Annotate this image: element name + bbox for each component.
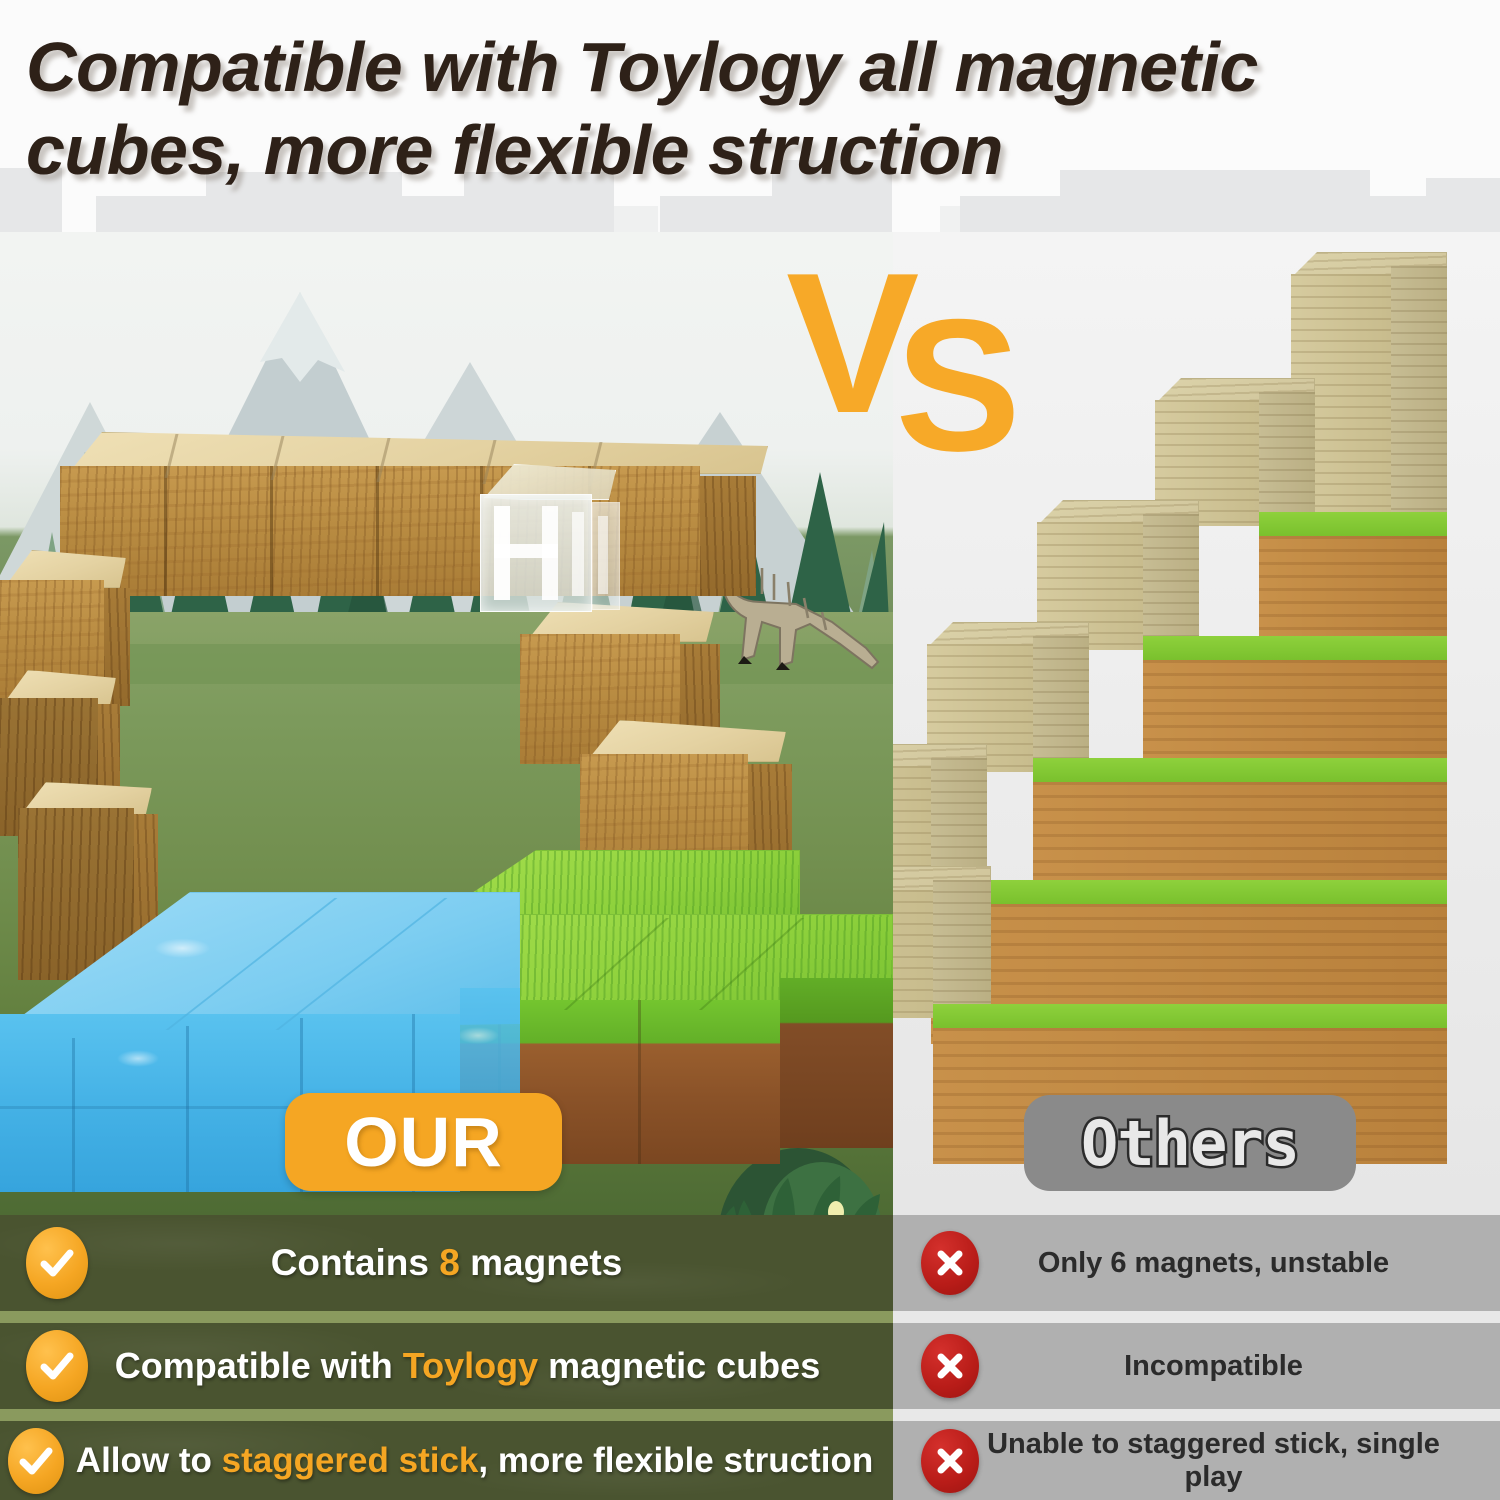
our-feature-column: Contains 8 magnets Compatible with Toylo… [0, 1215, 893, 1500]
others-badge-label: Others [1081, 1107, 1299, 1180]
others-feature-row-2: Incompatible [893, 1323, 1500, 1409]
our-feature-1-highlight: 8 [439, 1242, 460, 1283]
cross-icon [921, 1231, 979, 1295]
our-feature-row-3: Allow to staggered stick, more flexible … [0, 1421, 893, 1500]
row-separator-1 [0, 1311, 893, 1323]
our-feature-1-post: magnets [460, 1242, 622, 1283]
versus-s: S [895, 280, 1006, 490]
our-feature-2-post: magnetic cubes [538, 1345, 820, 1386]
page-title: Compatible with Toylogy all magnetic cub… [26, 26, 1486, 193]
our-feature-row-2: Compatible with Toylogy magnetic cubes [0, 1323, 893, 1409]
our-feature-text-1: Contains 8 magnets [88, 1242, 805, 1284]
clear-magnet-cube [480, 464, 620, 612]
comparison-photo-row: VS [0, 232, 1500, 1215]
others-feature-row-1: Only 6 magnets, unstable [893, 1215, 1500, 1311]
our-feature-text-2: Compatible with Toylogy magnetic cubes [88, 1345, 847, 1387]
our-feature-3-highlight: staggered stick [222, 1441, 479, 1480]
wood-cube-bridge [60, 432, 780, 612]
others-feature-text-3: Unable to staggered stick, single play [979, 1428, 1448, 1493]
others-feature-text-1: Only 6 magnets, unstable [979, 1247, 1448, 1279]
cross-icon [921, 1334, 979, 1398]
our-feature-2-pre: Compatible with [115, 1345, 403, 1386]
others-feature-text-2: Incompatible [979, 1350, 1448, 1382]
row-separator-2 [0, 1409, 893, 1421]
our-feature-text-3: Allow to staggered stick, more flexible … [64, 1441, 885, 1481]
header-banner: Compatible with Toylogy all magnetic cub… [0, 0, 1500, 232]
versus-v: V [786, 232, 905, 455]
our-feature-3-post: , more flexible struction [478, 1441, 873, 1480]
row-separator-2-right [893, 1409, 1500, 1421]
check-icon [26, 1227, 88, 1299]
our-feature-2-highlight: Toylogy [403, 1345, 538, 1386]
our-badge-label: OUR [344, 1102, 503, 1182]
our-feature-row-1: Contains 8 magnets [0, 1215, 893, 1311]
others-feature-row-3: Unable to staggered stick, single play [893, 1421, 1500, 1500]
others-badge: Others [1024, 1095, 1356, 1191]
versus-label: VS [786, 260, 1017, 460]
feature-comparison-table: Contains 8 magnets Compatible with Toylo… [0, 1215, 1500, 1500]
row-separator-1-right [893, 1311, 1500, 1323]
our-feature-3-pre: Allow to [76, 1441, 222, 1480]
product-comparison-image: Compatible with Toylogy all magnetic cub… [0, 0, 1500, 1500]
cross-icon [921, 1429, 979, 1493]
our-feature-1-pre: Contains [271, 1242, 440, 1283]
others-feature-column: Only 6 magnets, unstable Incompatible Un… [893, 1215, 1500, 1500]
our-badge: OUR [285, 1093, 562, 1191]
check-icon [26, 1330, 88, 1402]
our-product-scene [0, 232, 893, 1215]
check-icon [8, 1428, 64, 1494]
